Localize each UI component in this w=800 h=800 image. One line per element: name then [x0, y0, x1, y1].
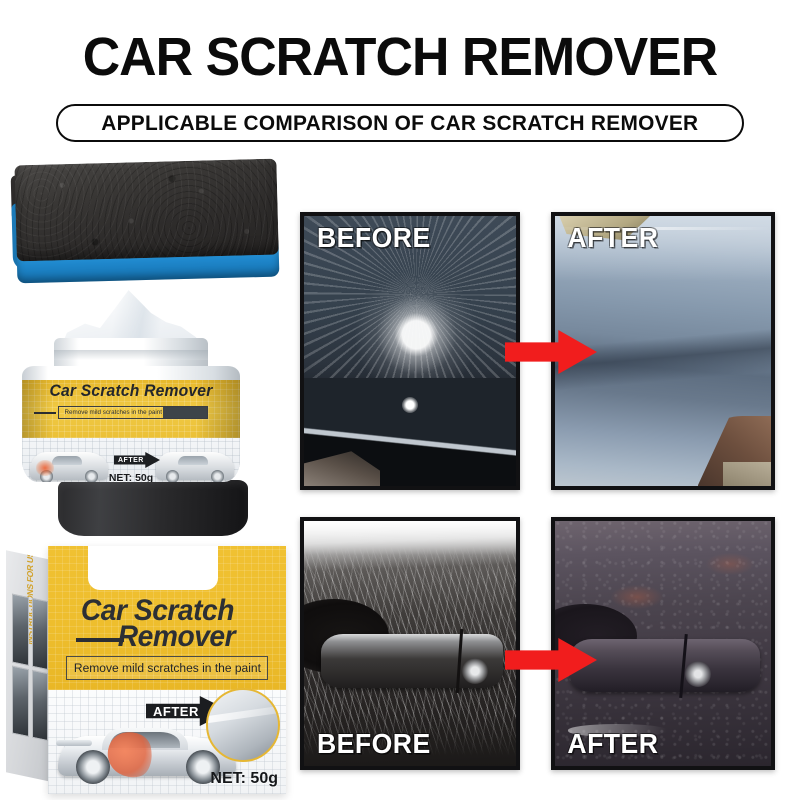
subtitle-banner: APPLICABLE COMPARISON OF CAR SCRATCH REM…	[56, 104, 744, 142]
page-header: CAR SCRATCH REMOVER APPLICABLE COMPARISO…	[0, 0, 800, 150]
jar-label-dash	[34, 412, 56, 414]
hood-ground-detail	[723, 462, 771, 486]
box-instruction-step	[32, 598, 49, 670]
jar-car-window	[178, 456, 208, 465]
box-instruction-step	[32, 669, 49, 741]
jar-cap-image	[58, 480, 248, 536]
product-jar-image: Car Scratch Remover Remove mild scratche…	[22, 338, 240, 498]
subtitle-text: APPLICABLE COMPARISON OF CAR SCRATCH REM…	[101, 111, 698, 136]
jar-after-arrow-icon: AFTER	[114, 452, 160, 468]
box-car-spoiler	[56, 740, 92, 746]
box-front-panel: Car Scratch Remover Remove mild scratche…	[48, 546, 286, 794]
box-title-line-2: Remover	[118, 620, 235, 654]
before-label: BEFORE	[317, 728, 431, 760]
jar-label-title: Car Scratch Remover	[27, 382, 234, 401]
product-box-image: INSTRUCTIONS FOR USE Car Scratch Remover…	[6, 546, 286, 794]
sponge-abrasive-top	[14, 159, 278, 262]
jar-net-weight: NET: 50g	[22, 472, 240, 482]
hood-trim-glare	[402, 397, 418, 413]
jar-car-window	[52, 456, 82, 465]
before-label: BEFORE	[317, 222, 431, 254]
box-repaired-door-inset	[206, 688, 280, 762]
box-after-label: AFTER	[146, 704, 199, 719]
door-reflection-highlight	[611, 585, 663, 610]
photo-door-handle-before: BEFORE	[300, 517, 520, 770]
door-panel-glare	[304, 521, 516, 555]
box-tagline-text: Remove mild scratches in the paint	[73, 661, 260, 675]
box-instruction-steps-grid	[12, 593, 48, 741]
after-label: AFTER	[567, 728, 658, 760]
jar-tagline-box: Remove mild scratches in the paint	[58, 406, 208, 419]
jar-label-photo-strip: AFTER NET: 50g	[22, 438, 240, 482]
box-car-wheel	[76, 750, 110, 784]
photo-hood-before: BEFORE	[300, 212, 520, 490]
box-side-panel: INSTRUCTIONS FOR USE	[6, 550, 52, 782]
hood-scratched-surface	[304, 216, 516, 486]
box-tagline-box: Remove mild scratches in the paint	[66, 656, 268, 680]
page-title: CAR SCRATCH REMOVER	[16, 26, 784, 88]
after-label: AFTER	[567, 222, 658, 254]
door-keyhole-icon	[685, 661, 711, 687]
polishing-sponge-image	[10, 159, 281, 291]
box-instruction-step	[12, 593, 29, 665]
jar-tagline-text: Remove mild scratches in the paint	[62, 409, 162, 416]
door-reflection-highlight	[706, 553, 754, 575]
box-die-cut-window	[88, 546, 218, 590]
photo-door-handle-after: AFTER	[551, 517, 775, 770]
jar-after-label: AFTER	[114, 457, 144, 464]
door-handle-bar	[570, 639, 760, 693]
jar-body: Car Scratch Remover Remove mild scratche…	[22, 366, 240, 482]
box-instruction-step	[12, 665, 29, 737]
box-net-weight: NET: 50g	[210, 770, 278, 788]
product-showcase-column: Car Scratch Remover Remove mild scratche…	[0, 150, 290, 800]
